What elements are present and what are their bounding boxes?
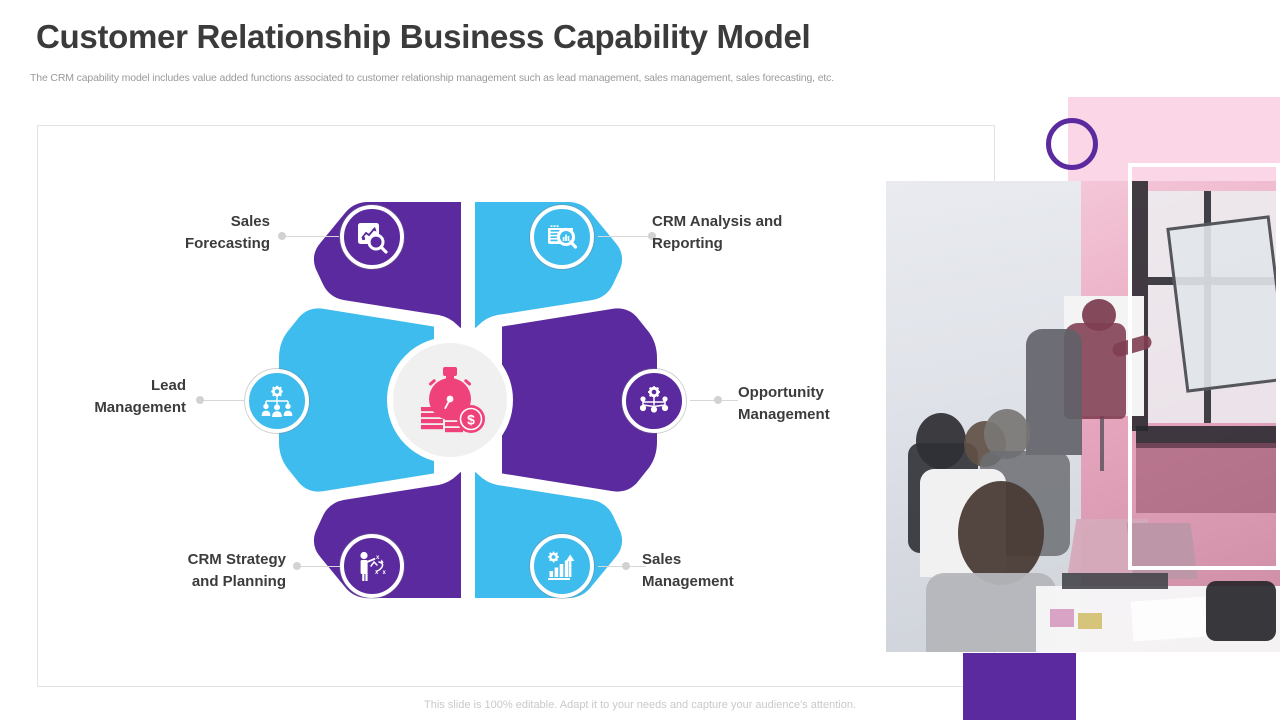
node-crm-strategy-and-planning[interactable]: x x x <box>340 534 404 598</box>
photo-right-half <box>1081 181 1280 652</box>
photo-white-frame <box>1128 163 1280 570</box>
node-opportunity-management[interactable] <box>622 369 686 433</box>
stopwatch-coins-dollar-icon: $ <box>411 361 489 439</box>
chart-search-icon <box>355 220 389 254</box>
pink-block <box>1068 97 1280 247</box>
node-sales-forecasting[interactable] <box>340 205 404 269</box>
gear-people-network-icon <box>260 384 294 418</box>
flip-chart <box>1064 296 1144 416</box>
open-window-sash <box>1166 215 1280 392</box>
chair-foreground <box>1206 581 1276 641</box>
label-line2: Forecasting <box>70 233 270 255</box>
label-lead-management[interactable]: Lead Management <box>0 375 186 419</box>
label-line2: and Planning <box>86 571 286 593</box>
window-frame-vertical <box>1132 181 1148 431</box>
label-line1: Lead <box>0 375 186 397</box>
bar-chart-gear-growth-icon <box>545 549 579 583</box>
node-crm-analysis-and-reporting[interactable] <box>530 205 594 269</box>
person-strategy-board-icon: x x x <box>355 549 389 583</box>
label-sales-management[interactable]: Sales Management <box>642 549 862 593</box>
connector-dot-crm-strategy <box>293 562 301 570</box>
window-mullion <box>1148 277 1280 285</box>
connector-dot-sales-management <box>622 562 630 570</box>
page-title: Customer Relationship Business Capabilit… <box>36 18 810 56</box>
label-line2: Management <box>642 571 862 593</box>
meeting-table <box>1036 586 1280 652</box>
connector-dot-opportunity-management <box>714 396 722 404</box>
node-lead-management[interactable] <box>245 369 309 433</box>
svg-text:$: $ <box>467 412 475 428</box>
connector-lead-management <box>203 400 245 401</box>
connector-crm-strategy <box>300 566 340 567</box>
label-crm-analysis-and-reporting[interactable]: CRM Analysis and Reporting <box>652 211 882 255</box>
svg-text:x: x <box>376 555 380 561</box>
purple-circle-outline <box>1046 118 1098 170</box>
node-sales-management[interactable] <box>530 534 594 598</box>
svg-text:x: x <box>383 570 387 576</box>
flip-chart-stand <box>1100 416 1104 471</box>
label-line1: Opportunity <box>738 382 958 404</box>
gear-nodes-network-icon <box>637 384 671 418</box>
window-sill <box>1136 426 1280 448</box>
footer-note: This slide is 100% editable. Adapt it to… <box>0 699 1280 711</box>
connector-dot-sales-forecasting <box>278 232 286 240</box>
label-opportunity-management[interactable]: Opportunity Management <box>738 382 958 426</box>
notebook-paper <box>1131 596 1208 641</box>
laptop-keyboard <box>1062 573 1168 589</box>
label-line1: CRM Strategy <box>86 549 286 571</box>
person-standing-head <box>1082 299 1116 331</box>
sticky-note-yellow <box>1078 613 1102 629</box>
connector-crm-analysis <box>598 236 652 237</box>
window-mullion-v <box>1204 191 1211 423</box>
connector-dot-lead-management <box>196 396 204 404</box>
label-line1: CRM Analysis and <box>652 211 882 233</box>
laptop-screen-2 <box>1127 523 1198 579</box>
person-standing-arm <box>1111 334 1153 358</box>
label-line2: Reporting <box>652 233 882 255</box>
label-line1: Sales <box>70 211 270 233</box>
label-line2: Management <box>738 404 958 426</box>
label-line2: Management <box>0 397 186 419</box>
report-magnifier-icon <box>545 220 579 254</box>
label-line1: Sales <box>642 549 862 571</box>
diagram-center-hub[interactable]: $ <box>387 337 513 463</box>
window-pane <box>1148 191 1280 423</box>
page-subtitle: The CRM capability model includes value … <box>30 72 834 84</box>
label-crm-strategy-and-planning[interactable]: CRM Strategy and Planning <box>86 549 286 593</box>
person-suit-body <box>1026 329 1082 455</box>
connector-sales-forecasting <box>285 236 339 237</box>
brick-wall <box>1136 443 1280 513</box>
person-standing-body <box>1064 323 1126 419</box>
sticky-note-pink <box>1050 609 1074 627</box>
label-sales-forecasting[interactable]: Sales Forecasting <box>70 211 270 255</box>
laptop-screen <box>1068 519 1149 575</box>
